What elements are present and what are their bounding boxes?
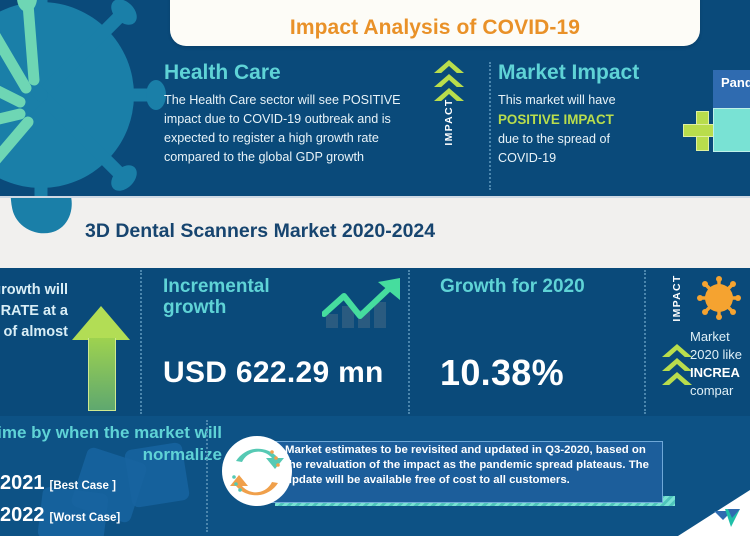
case-label: [Worst Case] (50, 512, 121, 524)
pandemic-card-title: Pandemic Impact (713, 70, 750, 108)
right-note-line-2: 2020 like (690, 346, 750, 364)
right-note-highlight: INCREA (690, 365, 740, 380)
health-care-block: Health Care The Health Care sector will … (164, 62, 412, 167)
decorative-blob (3, 196, 78, 239)
growth-2020-heading: Growth for 2020 (440, 276, 640, 297)
note-text: Market estimates to be revisited and upd… (285, 443, 665, 488)
pandemic-card-subtitle: Impact (721, 90, 750, 100)
pandemic-title-text: Pandemic (721, 75, 750, 90)
header-card: Impact Analysis of COVID-19 (170, 0, 700, 46)
page-title: Impact Analysis of COVID-19 (170, 16, 700, 40)
case-label: [Best Case ] (50, 480, 116, 492)
market-impact-line-1: This market will have (498, 91, 678, 110)
market-impact-highlight: POSITIVE IMPACT (498, 110, 678, 130)
market-impact-heading: Market Impact (498, 62, 678, 84)
market-impact-line-2: due to the spread of (498, 130, 678, 149)
incremental-growth-block: Incremental growth (163, 276, 328, 319)
case-row-worst: 2022[Worst Case] (0, 504, 120, 527)
impact-label: IMPACT (671, 268, 683, 343)
company-logo-icon (714, 507, 742, 529)
impact-indicator-top: IMPACT (428, 60, 472, 190)
report-title-band: 3D Dental Scanners Market 2020-2024 (0, 196, 750, 272)
incremental-growth-heading: Incremental growth (163, 276, 328, 319)
right-note-line-3: compar (690, 382, 750, 400)
metrics-right-note: Market 2020 like INCREA compar (690, 328, 750, 400)
virus-icon-orange (697, 276, 741, 320)
report-title: 3D Dental Scanners Market 2020-2024 (85, 220, 435, 243)
case-row-best: 2021[Best Case ] (0, 472, 116, 495)
chevron-up-icon (662, 358, 692, 371)
normalize-text: time by when the market will normalize (0, 422, 222, 466)
chevron-up-icon (434, 60, 464, 73)
impact-label: IMPACT (443, 77, 455, 167)
divider (408, 270, 410, 414)
infographic-root: Impact Analysis of COVID-19 Health Care … (0, 0, 750, 536)
trend-up-chart-icon (322, 276, 404, 338)
cagr-label: growth will ACCELERATE at a CAGR of almo… (0, 280, 68, 343)
pandemic-card: Pandemic Impact (713, 70, 750, 152)
divider (644, 270, 646, 414)
virus-icon (0, 0, 168, 196)
growth-2020-value: 10.38% (440, 352, 564, 394)
divider (489, 62, 491, 190)
divider (140, 270, 142, 414)
chevron-up-icon (662, 344, 692, 357)
incremental-growth-value: USD 622.29 mn (163, 356, 384, 390)
chevron-up-icon (662, 372, 692, 385)
case-year: 2021 (0, 472, 45, 494)
health-care-body: The Health Care sector will see POSITIVE… (164, 91, 412, 167)
market-impact-block: Market Impact This market will have POSI… (498, 62, 678, 168)
health-care-heading: Health Care (164, 62, 412, 84)
market-impact-line-3: COVID-19 (498, 149, 678, 168)
right-note-line-1: Market (690, 328, 750, 346)
pandemic-card-body (713, 108, 750, 152)
up-arrow-icon (72, 306, 130, 410)
refresh-cycle-icon (222, 436, 292, 506)
divider (206, 420, 208, 532)
case-year: 2022 (0, 504, 45, 526)
top-impact-section: Impact Analysis of COVID-19 Health Care … (0, 0, 750, 196)
